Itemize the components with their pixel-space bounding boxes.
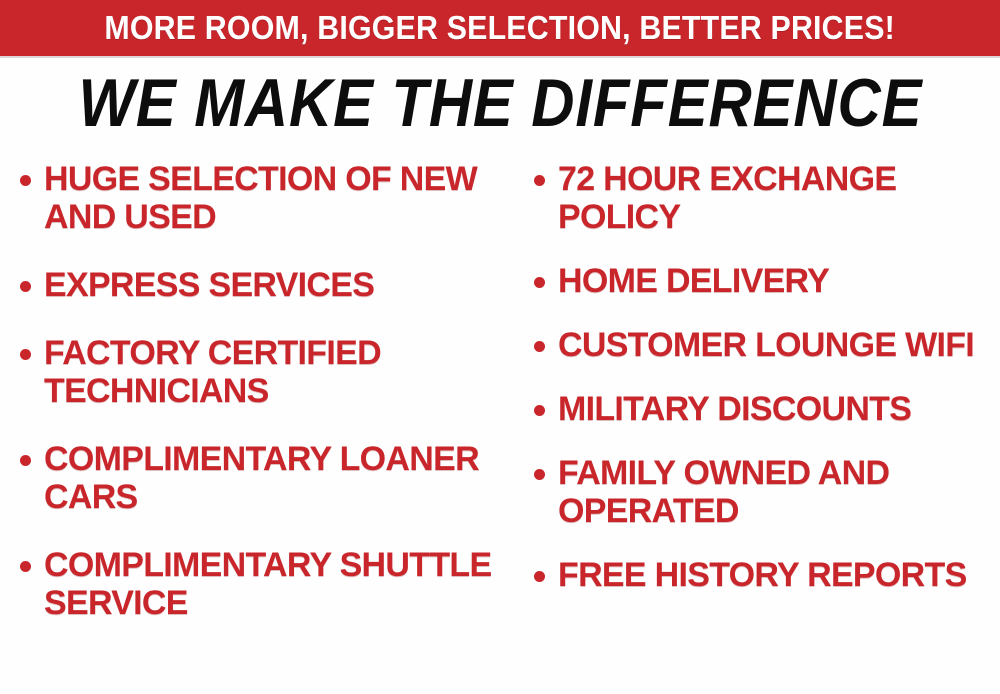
list-item-label: FAMILY OWNED AND OPERATED — [558, 454, 1000, 530]
list-item: COMPLIMENTARY SHUTTLE SERVICE — [20, 546, 512, 622]
top-banner-headline: MORE ROOM, BIGGER SELECTION, BETTER PRIC… — [105, 11, 896, 45]
list-item-label: MILITARY DISCOUNTS — [558, 390, 1000, 428]
top-banner: MORE ROOM, BIGGER SELECTION, BETTER PRIC… — [0, 0, 1000, 56]
list-item: HOME DELIVERY — [534, 262, 1000, 300]
list-item-label: HUGE SELECTION OF NEW AND USED — [44, 160, 512, 236]
benefits-column-left: HUGE SELECTION OF NEW AND USED EXPRESS S… — [0, 160, 512, 694]
list-item: 72 HOUR EXCHANGE POLICY — [534, 160, 1000, 236]
bullet-dot-icon — [534, 341, 545, 352]
list-item: FACTORY CERTIFIED TECHNICIANS — [20, 334, 512, 410]
list-item: CUSTOMER LOUNGE WIFI — [534, 326, 1000, 364]
benefits-columns: HUGE SELECTION OF NEW AND USED EXPRESS S… — [0, 160, 1000, 694]
bullet-dot-icon — [534, 469, 545, 480]
list-item-label: 72 HOUR EXCHANGE POLICY — [558, 160, 1000, 236]
bullet-dot-icon — [20, 349, 31, 360]
list-item: MILITARY DISCOUNTS — [534, 390, 1000, 428]
list-item-label: COMPLIMENTARY LOANER CARS — [44, 440, 512, 516]
benefits-column-right: 72 HOUR EXCHANGE POLICY HOME DELIVERY CU… — [512, 160, 1000, 694]
page-title: WE MAKE THE DIFFERENCE — [0, 68, 1000, 138]
list-item: FREE HISTORY REPORTS — [534, 556, 1000, 594]
bullet-dot-icon — [534, 571, 545, 582]
bullet-dot-icon — [20, 175, 31, 186]
bullet-dot-icon — [534, 175, 545, 186]
page-title-text: WE MAKE THE DIFFERENCE — [78, 68, 922, 138]
list-item-label: HOME DELIVERY — [558, 262, 1000, 300]
list-item-label: FACTORY CERTIFIED TECHNICIANS — [44, 334, 512, 410]
bullet-dot-icon — [534, 405, 545, 416]
promotional-poster: MORE ROOM, BIGGER SELECTION, BETTER PRIC… — [0, 0, 1000, 694]
bullet-dot-icon — [20, 281, 31, 292]
list-item: EXPRESS SERVICES — [20, 266, 512, 304]
list-item: FAMILY OWNED AND OPERATED — [534, 454, 1000, 530]
bullet-dot-icon — [534, 277, 545, 288]
list-item: HUGE SELECTION OF NEW AND USED — [20, 160, 512, 236]
list-item-label: CUSTOMER LOUNGE WIFI — [558, 326, 1000, 364]
banner-divider — [0, 56, 1000, 58]
bullet-dot-icon — [20, 455, 31, 466]
list-item: COMPLIMENTARY LOANER CARS — [20, 440, 512, 516]
list-item-label: EXPRESS SERVICES — [44, 266, 512, 304]
list-item-label: FREE HISTORY REPORTS — [558, 556, 1000, 594]
bullet-dot-icon — [20, 561, 31, 572]
list-item-label: COMPLIMENTARY SHUTTLE SERVICE — [44, 546, 512, 622]
